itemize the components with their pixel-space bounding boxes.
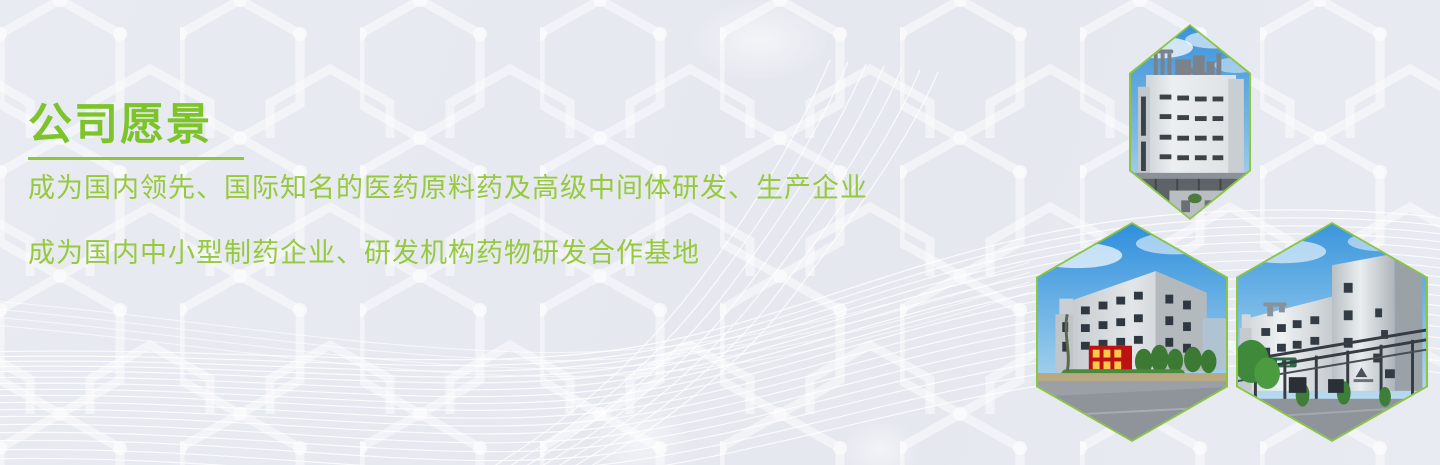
title-underline-rule <box>28 157 244 160</box>
hex-photo-production-plant-image <box>1131 26 1249 218</box>
company-vision-banner: 公司愿景 成为国内领先、国际知名的医药原料药及高级中间体研发、生产企业 成为国内… <box>0 0 1440 465</box>
vision-statement-line-2: 成为国内中小型制药企业、研发机构药物研发合作基地 <box>28 235 1038 271</box>
vision-statement-line-1: 成为国内领先、国际知名的医药原料药及高级中间体研发、生产企业 <box>28 170 1038 206</box>
hex-photo-factory-front[interactable] <box>1036 222 1228 442</box>
vision-text-block: 公司愿景 成为国内领先、国际知名的医药原料药及高级中间体研发、生产企业 成为国内… <box>28 100 1038 271</box>
hex-photo-factory-front-image <box>1038 224 1226 440</box>
page-title: 公司愿景 <box>28 100 1038 149</box>
hex-photo-production-plant[interactable] <box>1129 24 1251 220</box>
hex-photo-workshop-pipe-rack-image <box>1238 224 1426 440</box>
hex-photo-workshop-pipe-rack[interactable] <box>1236 222 1428 442</box>
